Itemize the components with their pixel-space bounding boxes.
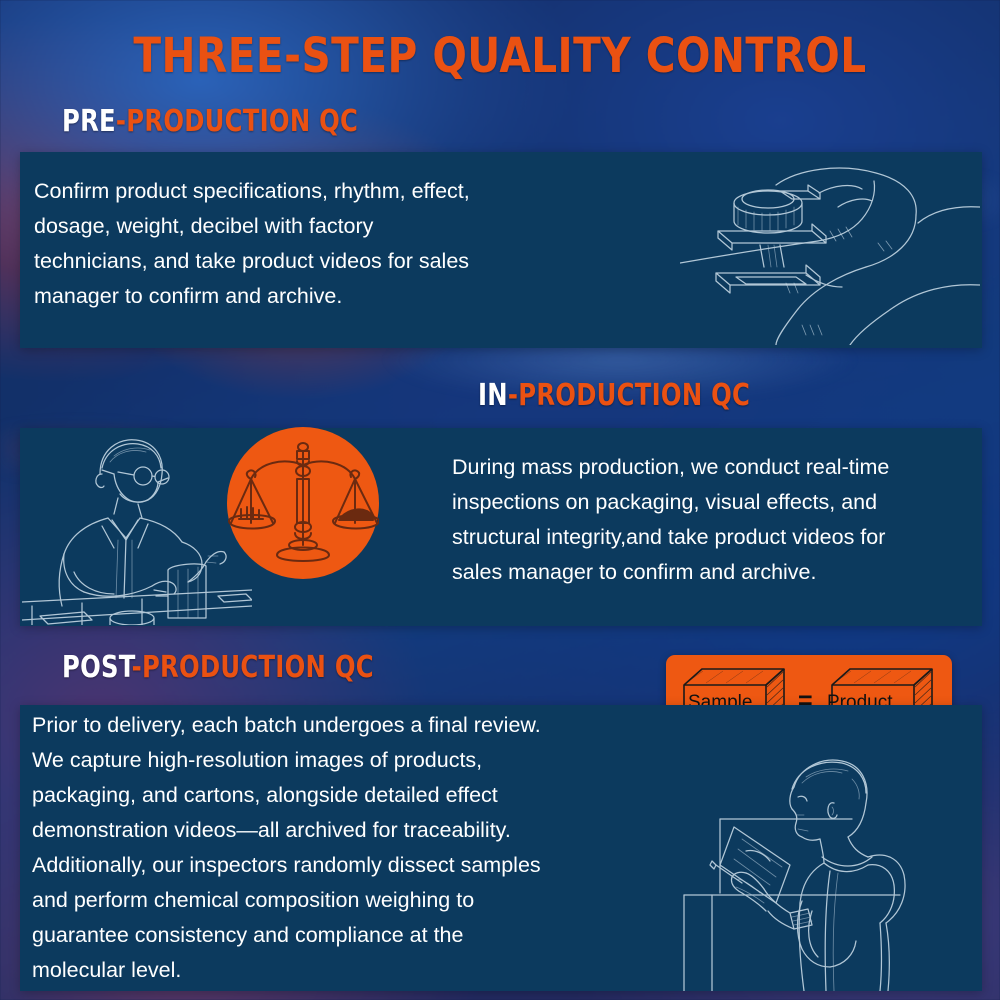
section-header-pre: PRE-PRODUCTION QC xyxy=(62,104,358,139)
section-header-in: IN-PRODUCTION QC xyxy=(478,378,750,413)
body-text-post: Prior to delivery, each batch undergoes … xyxy=(32,708,672,988)
balance-scale-badge xyxy=(227,427,379,579)
section-header-in-white: IN xyxy=(478,378,508,413)
hand-holding-device-icon xyxy=(680,155,980,345)
infographic-poster: THREE-STEP QUALITY CONTROL PRE-PRODUCTIO… xyxy=(0,0,1000,1000)
section-header-pre-orange: -PRODUCTION QC xyxy=(116,104,358,139)
section-header-post-orange: -PRODUCTION QC xyxy=(132,650,374,685)
body-text-in: During mass production, we conduct real-… xyxy=(452,450,982,590)
balance-scale-icon xyxy=(227,427,379,579)
page-title: THREE-STEP QUALITY CONTROL xyxy=(30,28,970,84)
section-header-post: POST-PRODUCTION QC xyxy=(62,650,374,685)
worker-inspecting-products-icon xyxy=(22,430,252,625)
section-header-in-orange: -PRODUCTION QC xyxy=(508,378,750,413)
section-header-pre-white: PRE xyxy=(62,104,116,139)
man-with-clipboard-icon xyxy=(672,753,982,991)
body-text-pre: Confirm product specifications, rhythm, … xyxy=(34,174,594,314)
section-header-post-white: POST xyxy=(62,650,132,685)
